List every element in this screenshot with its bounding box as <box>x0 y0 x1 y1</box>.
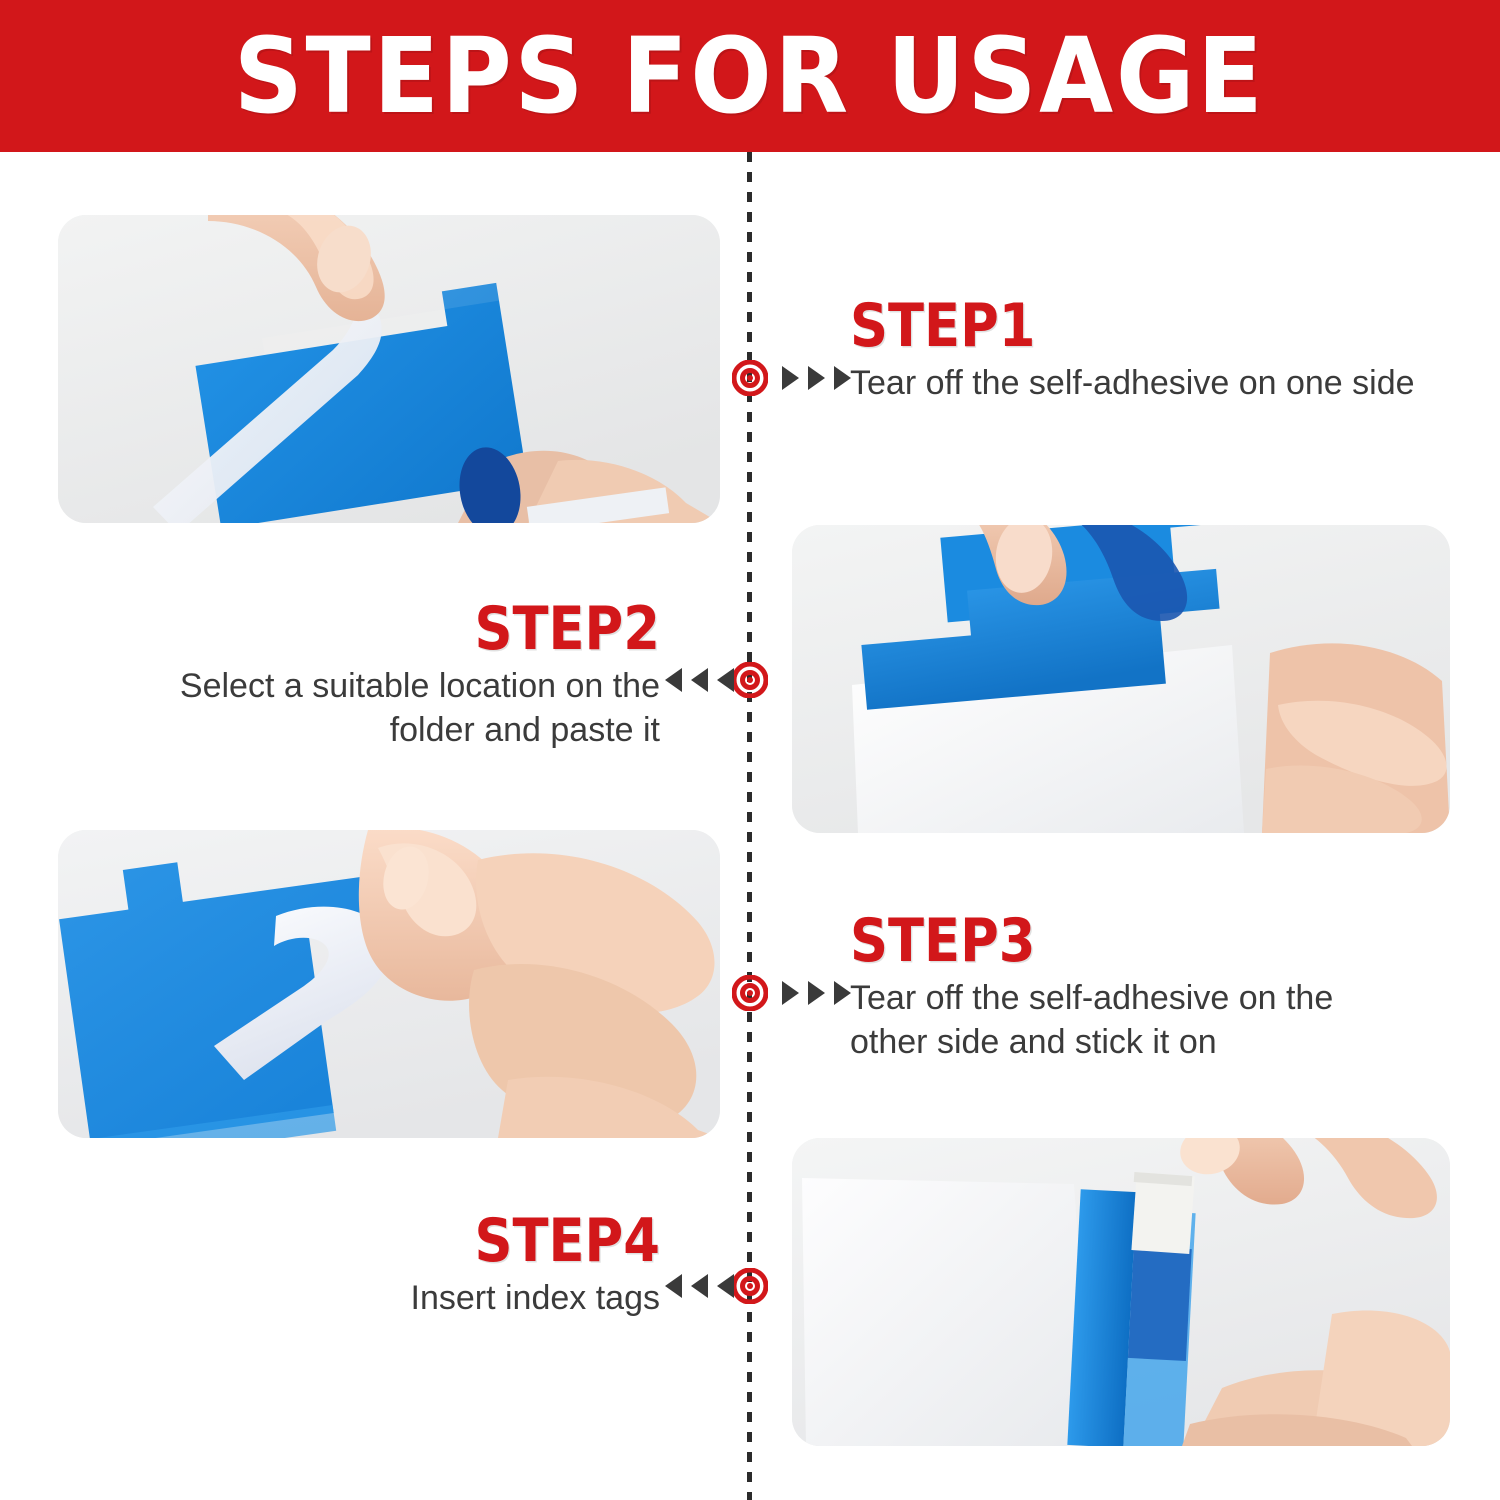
triangle-right-icon <box>782 981 799 1005</box>
arrows-step4 <box>665 1274 734 1298</box>
arrows-step3 <box>782 981 851 1005</box>
triangle-left-icon <box>717 668 734 692</box>
step-description-step2: Select a suitable location on the folder… <box>90 664 660 752</box>
step-label-step2: STEP2 <box>158 600 660 658</box>
step-description-step3: Tear off the self-adhesive on the other … <box>850 976 1420 1064</box>
bullseye-marker-step3 <box>732 975 768 1011</box>
arrows-step2 <box>665 668 734 692</box>
bullseye-marker-step2 <box>732 662 768 698</box>
step-label-step1: STEP1 <box>850 297 1352 355</box>
photo-step1 <box>58 215 720 523</box>
photo-step4 <box>792 1138 1450 1446</box>
step-block-step1: STEP1 Tear off the self-adhesive on one … <box>850 297 1420 405</box>
photo-step3 <box>58 830 720 1138</box>
step-block-step4: STEP4 Insert index tags <box>90 1212 660 1320</box>
step-description-step1: Tear off the self-adhesive on one side <box>850 361 1420 405</box>
triangle-right-icon <box>834 981 851 1005</box>
header-banner: STEPS FOR USAGE <box>0 0 1500 152</box>
triangle-right-icon <box>834 366 851 390</box>
step-label-step4: STEP4 <box>158 1212 660 1270</box>
bullseye-marker-step4 <box>732 1268 768 1304</box>
triangle-left-icon <box>665 1274 682 1298</box>
triangle-right-icon <box>782 366 799 390</box>
triangle-right-icon <box>808 366 825 390</box>
triangle-left-icon <box>717 1274 734 1298</box>
photo-step2 <box>792 525 1450 833</box>
step-block-step3: STEP3 Tear off the self-adhesive on the … <box>850 912 1420 1064</box>
step-label-step3: STEP3 <box>850 912 1352 970</box>
triangle-right-icon <box>808 981 825 1005</box>
bullseye-marker-step1 <box>732 360 768 396</box>
step-block-step2: STEP2 Select a suitable location on the … <box>90 600 660 752</box>
step-description-step4: Insert index tags <box>90 1276 660 1320</box>
triangle-left-icon <box>691 1274 708 1298</box>
page-title: STEPS FOR USAGE <box>234 24 1266 128</box>
triangle-left-icon <box>691 668 708 692</box>
triangle-left-icon <box>665 668 682 692</box>
arrows-step1 <box>782 366 851 390</box>
